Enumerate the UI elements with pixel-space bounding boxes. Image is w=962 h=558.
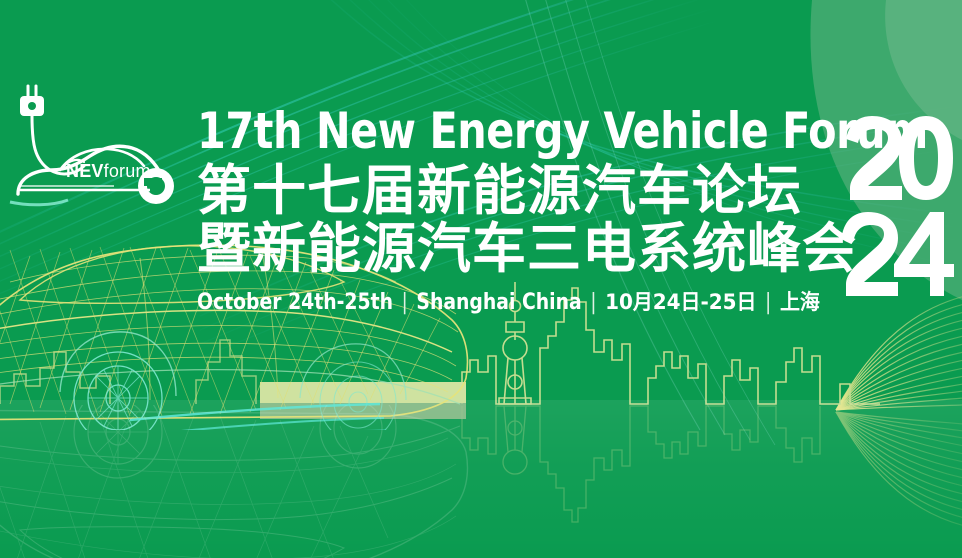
meta-date-en: October 24th-25th — [197, 290, 393, 315]
logo-word-nev: NEV — [66, 161, 104, 181]
english-title: 17th New Energy Vehicle Forum — [197, 106, 786, 156]
headline-block: 17th New Energy Vehicle Forum 第十七届新能源汽车论… — [197, 106, 837, 315]
conference-banner: NEVforum 17th New Energy Vehicle Forum 第… — [0, 0, 962, 558]
water-reflection-band — [0, 400, 962, 558]
logo-wordmark: NEVforum — [66, 162, 151, 180]
chinese-title-line-2: 暨新能源汽车三电系统峰会 — [197, 218, 837, 280]
ev-plug-car-logo-icon — [4, 78, 184, 208]
logo-word-forum: forum — [104, 161, 151, 181]
meta-date-cn: 10月24日-25日 — [605, 290, 756, 314]
chinese-title-line-1: 第十七届新能源汽车论坛 — [197, 160, 837, 222]
meta-location-cn: 上海 — [780, 290, 820, 314]
ground-bar-reflection — [260, 403, 466, 419]
meta-separator-2: | — [582, 290, 605, 315]
nevforum-logo[interactable]: NEVforum — [4, 78, 184, 208]
ground-bar — [260, 382, 466, 403]
meta-location-en: Shanghai China — [416, 290, 581, 315]
year-digit-4-bottom — [894, 212, 954, 296]
event-meta-line: October 24th-25th|Shanghai China|10月24日-… — [197, 290, 805, 315]
meta-separator-3: | — [757, 290, 780, 315]
meta-separator-1: | — [393, 290, 416, 315]
